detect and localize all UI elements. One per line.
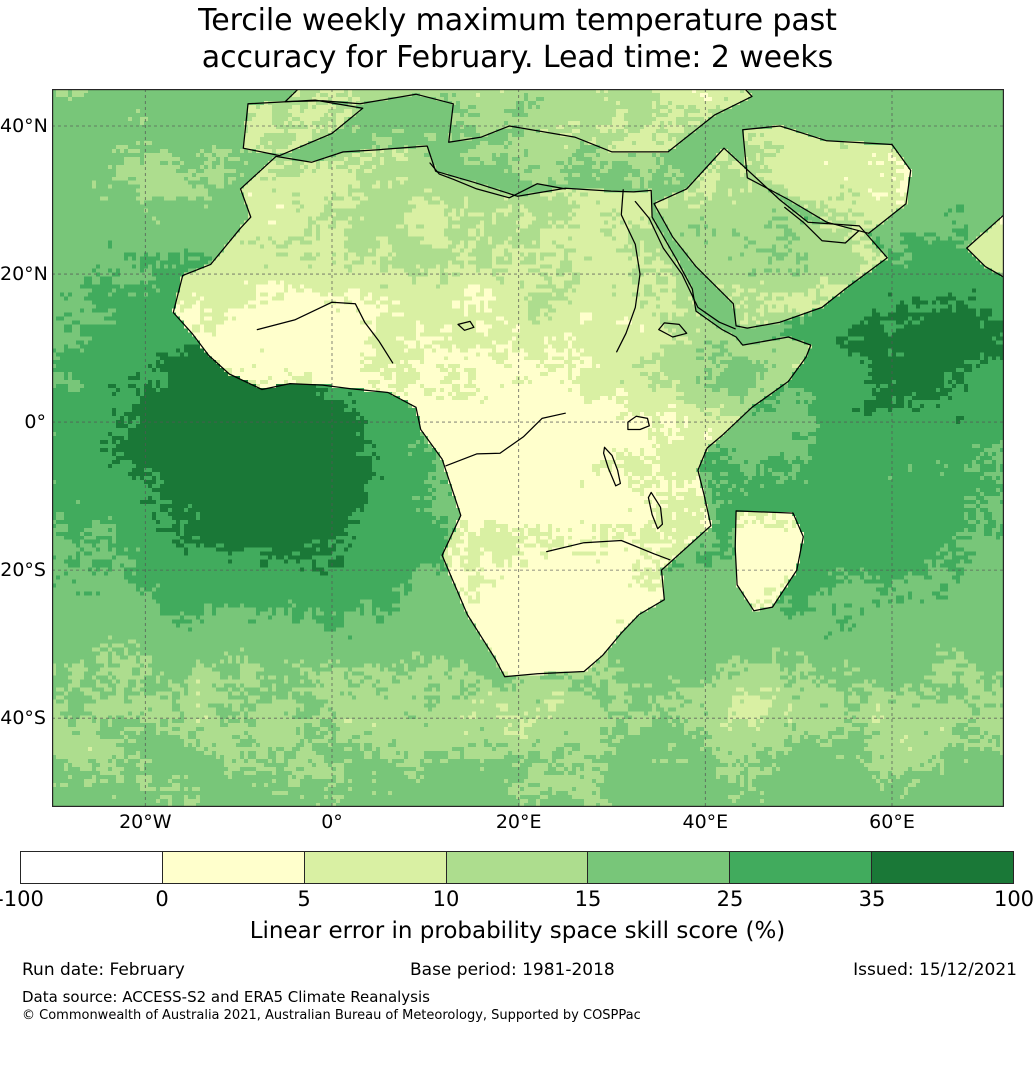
chart-title-line-2: accuracy for February. Lead time: 2 week… (0, 39, 1035, 76)
y-axis-tick-4: 40°S (0, 707, 46, 729)
coastline-africa (173, 146, 811, 677)
colorbar-tick-6: 35 (859, 887, 886, 911)
footer-copyright: © Commonwealth of Australia 2021, Austra… (22, 1008, 641, 1023)
colorbar-tick-3: 10 (433, 887, 460, 911)
colorbar-segment-0 (21, 852, 162, 883)
colorbar-segment-1 (162, 852, 304, 883)
river-niger (257, 302, 392, 363)
map-overlay-vectors (52, 89, 1004, 807)
y-axis-tick-2: 0° (0, 411, 46, 433)
footer-primary-row: Run date: February Base period: 1981-201… (0, 960, 1035, 986)
coastline-red-sea-west (635, 202, 735, 329)
colorbar-segment-3 (446, 852, 588, 883)
footer: Run date: February Base period: 1981-201… (0, 960, 1035, 986)
coastline-madagascar (735, 511, 803, 611)
river-congo (446, 413, 565, 466)
colorbar-segment-2 (304, 852, 446, 883)
lake-tana (659, 323, 687, 337)
map-plot-area (52, 89, 1004, 807)
y-axis-tick-0: 40°N (0, 115, 46, 137)
footer-base-period: Base period: 1981-2018 (410, 960, 615, 980)
colorbar-tick-2: 5 (297, 887, 310, 911)
footer-issued-date: Issued: 15/12/2021 (853, 960, 1017, 980)
chart-title-line-1: Tercile weekly maximum temperature past (0, 2, 1035, 39)
colorbar-tick-5: 25 (717, 887, 744, 911)
colorbar-axis-label: Linear error in probability space skill … (0, 918, 1035, 944)
colorbar-segment-6 (871, 852, 1013, 883)
lake-malawi (648, 492, 662, 528)
colorbar-tick-4: 15 (575, 887, 602, 911)
x-axis-tick-0: 20°W (119, 811, 171, 833)
colorbar-tick-7: 100 (994, 887, 1034, 911)
y-axis-tick-3: 20°S (0, 559, 46, 581)
map-gridlines (52, 89, 1004, 807)
river-nile (617, 190, 640, 352)
chart-title: Tercile weekly maximum temperature past … (0, 0, 1035, 76)
map-coastlines (173, 89, 1004, 677)
x-axis-tick-4: 60°E (869, 811, 915, 833)
coastline-arabian-peninsula (654, 148, 887, 328)
coastline-indian-subcontinent (967, 204, 1004, 362)
lake-victoria (628, 416, 649, 429)
x-axis-tick-3: 40°E (682, 811, 728, 833)
lake-tanganyika (604, 447, 621, 486)
coastline-iberian-peninsula (243, 100, 362, 156)
x-axis-tick-2: 20°E (496, 811, 542, 833)
y-axis-tick-1: 20°N (0, 263, 46, 285)
coastline-libya (430, 163, 565, 198)
footer-data-source: Data source: ACCESS-S2 and ERA5 Climate … (22, 988, 430, 1006)
coastline-iran-persian-gulf (743, 126, 911, 233)
footer-run-date: Run date: February (22, 960, 185, 980)
colorbar (20, 851, 1014, 884)
colorbar-segment-4 (587, 852, 729, 883)
x-axis-tick-1: 0° (321, 811, 343, 833)
colorbar-segment-5 (729, 852, 871, 883)
colorbar-tick-1: 0 (155, 887, 168, 911)
colorbar-tick-0: -100 (0, 887, 44, 911)
lake-chad (458, 321, 474, 330)
river-zambezi (547, 541, 670, 560)
